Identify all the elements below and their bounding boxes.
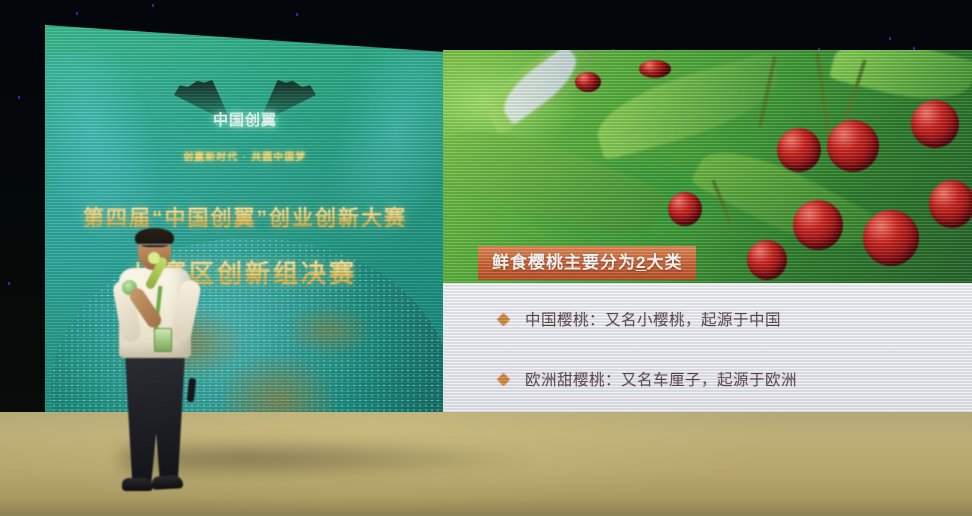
cherry-fruit	[911, 100, 959, 148]
list-item-label: 中国樱桃：又名小樱桃，起源于中国	[525, 308, 781, 330]
list-item: 中国樱桃：又名小樱桃，起源于中国	[499, 308, 952, 330]
light-speck	[18, 96, 20, 99]
presentation-slide: 鲜食樱桃主要分为2大类 川 中国樱桃：又名小樱桃，起源于中国 欧洲甜樱桃：又名车…	[443, 50, 972, 432]
cherry-photo: 鲜食樱桃主要分为2大类	[443, 50, 972, 284]
cherry-fruit	[793, 200, 843, 250]
backdrop-title-line-2: 川赛区创新组决赛	[45, 254, 445, 290]
cherry-fruit	[575, 72, 601, 92]
banner-suffix: 大类	[646, 253, 682, 272]
list-item-label: 欧洲甜樱桃：又名车厘子，起源于欧洲	[525, 368, 797, 390]
cherry-fruit	[929, 180, 972, 228]
speaker-shoe-left	[122, 478, 153, 491]
bullet-list: 中国樱桃：又名小樱桃，起源于中国 欧洲甜樱桃：又名车厘子，起源于欧洲	[499, 308, 952, 428]
handheld-object	[187, 378, 196, 403]
slide-banner: 鲜食樱桃主要分为2大类	[478, 246, 696, 280]
list-item: 欧洲甜樱桃：又名车厘子，起源于欧洲	[499, 368, 952, 390]
glasses-icon	[139, 244, 170, 251]
speaker-figure	[108, 228, 204, 516]
light-speck	[8, 282, 10, 285]
stem-shape	[815, 52, 831, 138]
stage-photo: 世界地图 中国创翼 创赢新时代 · 共圆中国梦 第四届“中国创翼”创业创新大赛 …	[0, 0, 972, 516]
microphone-head-icon	[148, 252, 160, 264]
diamond-bullet-icon	[497, 313, 510, 326]
light-speck	[296, 13, 298, 16]
logo-text: 中国创翼	[170, 109, 320, 130]
event-logo: 中国创翼 创赢新时代 · 共圆中国梦	[45, 80, 445, 163]
cherry-fruit	[668, 192, 702, 226]
diamond-bullet-icon	[497, 373, 510, 386]
cherry-fruit	[639, 60, 671, 78]
light-speck	[889, 37, 891, 40]
cherry-fruit	[863, 210, 919, 266]
logo-wings-icon: 中国创翼	[170, 80, 320, 128]
speaker-trousers	[125, 354, 185, 482]
logo-tagline: 创赢新时代 · 共圆中国梦	[45, 149, 445, 163]
speaker-shoe-right	[152, 475, 184, 490]
banner-prefix: 鲜食樱桃主要分为	[492, 253, 636, 272]
backdrop-title-line-1: 第四届“中国创翼”创业创新大赛	[45, 202, 445, 232]
leaf-shape	[588, 51, 787, 161]
banner-highlight: 2	[636, 253, 646, 272]
speaker-badge	[154, 328, 172, 352]
cherry-fruit	[777, 128, 821, 172]
cherry-fruit	[827, 120, 879, 172]
light-speck	[152, 4, 154, 7]
cherry-fruit	[747, 240, 787, 280]
light-speck	[76, 12, 78, 15]
backdrop-led-panel: 世界地图 中国创翼 创赢新时代 · 共圆中国梦 第四届“中国创翼”创业创新大赛 …	[45, 22, 445, 446]
